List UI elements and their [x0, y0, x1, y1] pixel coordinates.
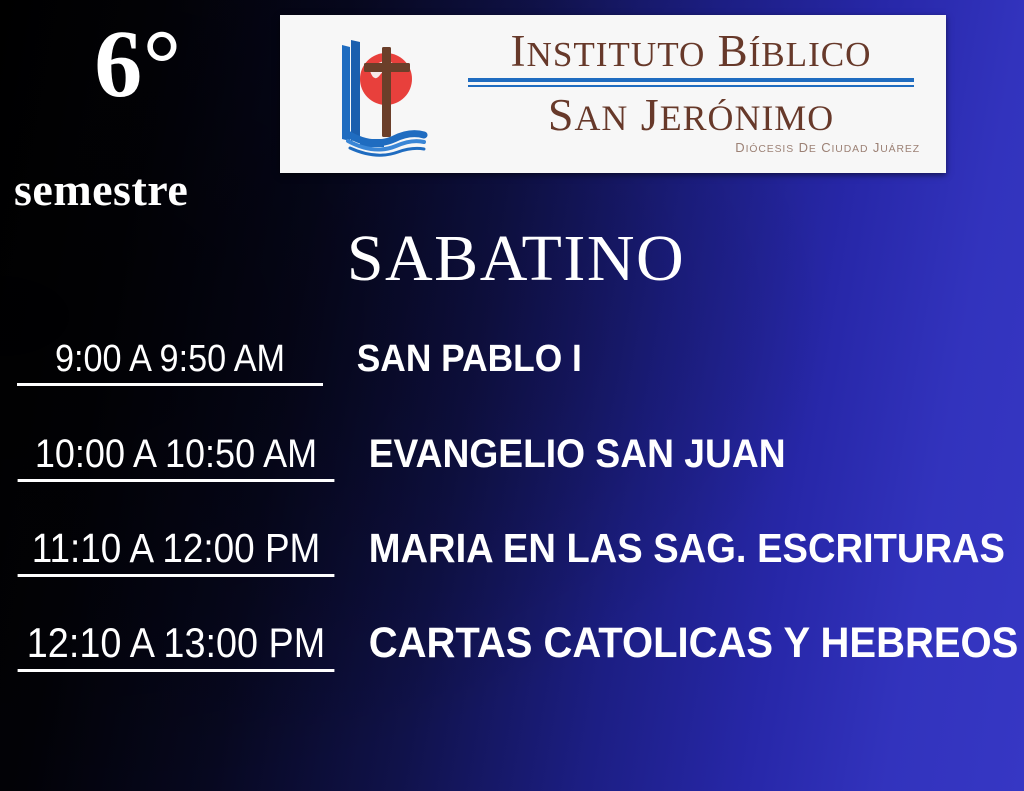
- schedule-subject: EVANGELIO SAN JUAN: [352, 434, 977, 474]
- semester-label: semestre: [14, 167, 188, 213]
- logo-subtitle-diocese: DIÓCESIS DE CIUDAD JUÁREZ: [454, 140, 928, 155]
- semester-number: 6°: [58, 16, 218, 112]
- schedule-list: 9:00 A 9:50 AM SAN PABLO I 10:00 A 10:50…: [0, 340, 1024, 716]
- schedule-subject: CARTAS CATOLICAS Y HEBREOS: [352, 622, 1018, 665]
- page-title: SABATINO: [0, 226, 1024, 292]
- book-cross-flame-icon: [324, 29, 444, 159]
- schedule-time-text: 10:00 A 10:50 AM: [35, 434, 317, 474]
- schedule-time: 10:00 A 10:50 AM: [18, 434, 335, 482]
- logo-line-san-jeronimo: SAN JERÓNIMO: [454, 91, 928, 139]
- schedule-time: 9:00 A 9:50 AM: [17, 340, 323, 386]
- institute-logo-plaque: INSTITUTO BÍBLICO SAN JERÓNIMO DIÓCESIS …: [280, 15, 946, 173]
- schedule-row: 12:10 A 13:00 PM CARTAS CATOLICAS Y HEBR…: [0, 622, 1024, 716]
- schedule-time-text: 11:10 A 12:00 PM: [32, 528, 321, 569]
- logo-divider-rules: [468, 78, 914, 87]
- schedule-time: 11:10 A 12:00 PM: [18, 528, 335, 577]
- schedule-time: 12:10 A 13:00 PM: [18, 622, 335, 672]
- schedule-subject: SAN PABLO I: [340, 340, 976, 378]
- schedule-subject: MARIA EN LAS SAG. ESCRITURAS: [352, 528, 1005, 569]
- logo-wordmark: INSTITUTO BÍBLICO SAN JERÓNIMO DIÓCESIS …: [454, 29, 946, 155]
- schedule-row: 10:00 A 10:50 AM EVANGELIO SAN JUAN: [0, 434, 1024, 528]
- logo-line-instituto-biblico: INSTITUTO BÍBLICO: [454, 29, 928, 75]
- schedule-slide: 6° semestre INSTITUTO BÍBLICO: [0, 0, 1024, 791]
- schedule-row: 9:00 A 9:50 AM SAN PABLO I: [0, 340, 1024, 434]
- schedule-time-text: 9:00 A 9:50 AM: [55, 340, 285, 378]
- schedule-row: 11:10 A 12:00 PM MARIA EN LAS SAG. ESCRI…: [0, 528, 1024, 622]
- logo-rule-thin: [468, 85, 914, 87]
- schedule-time-text: 12:10 A 13:00 PM: [27, 622, 325, 664]
